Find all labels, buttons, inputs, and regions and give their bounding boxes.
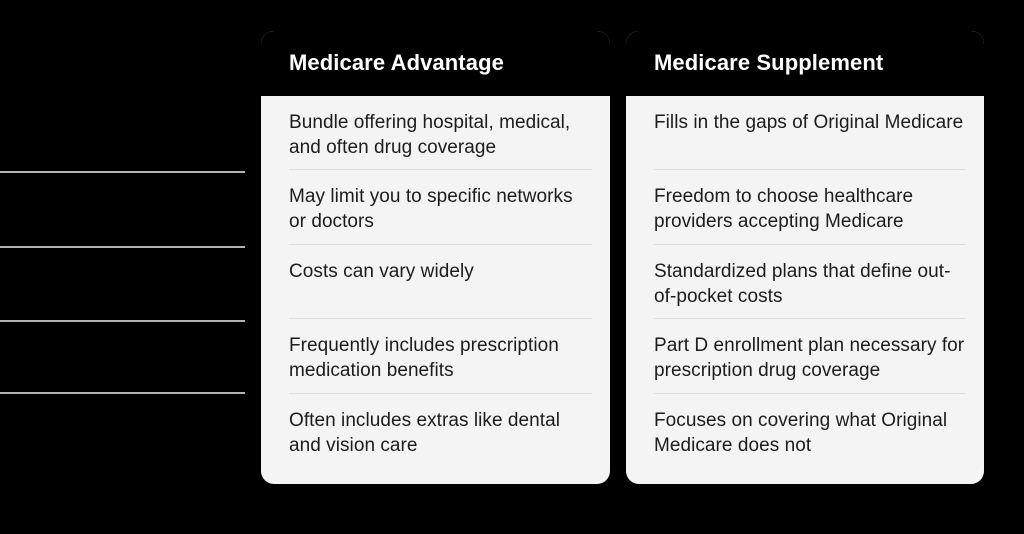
feature-row: Freedom to choose healthcare providers a… <box>654 170 966 244</box>
comparison-screen: Medicare Advantage Bundle offering hospi… <box>0 0 1024 534</box>
card-title: Medicare Advantage <box>289 51 504 75</box>
feature-text: May limit you to specific networks or do… <box>289 184 592 234</box>
clipped-comparison-column <box>0 0 245 534</box>
feature-text: Standardized plans that define out-of-po… <box>654 259 966 309</box>
feature-text: Part D enrollment plan necessary for pre… <box>654 333 966 383</box>
feature-row: Bundle offering hospital, medical, and o… <box>289 96 592 170</box>
feature-text: Frequently includes prescription medicat… <box>289 333 592 383</box>
feature-text: Bundle offering hospital, medical, and o… <box>289 110 592 160</box>
feature-row: Part D enrollment plan necessary for pre… <box>654 319 966 393</box>
card-feature-list: Fills in the gaps of Original Medicare F… <box>626 96 984 468</box>
clipped-row-divider <box>0 246 245 248</box>
feature-row: May limit you to specific networks or do… <box>289 170 592 244</box>
feature-text: Fills in the gaps of Original Medicare <box>654 110 963 135</box>
clipped-row-divider <box>0 171 245 173</box>
feature-text: Often includes extras like dental and vi… <box>289 408 592 458</box>
feature-row: Frequently includes prescription medicat… <box>289 319 592 393</box>
card-header: Medicare Supplement <box>626 31 984 96</box>
card-header: Medicare Advantage <box>261 31 610 96</box>
feature-text: Costs can vary widely <box>289 259 474 284</box>
feature-row: Often includes extras like dental and vi… <box>289 394 592 468</box>
feature-text: Freedom to choose healthcare providers a… <box>654 184 966 234</box>
feature-text: Focuses on covering what Original Medica… <box>654 408 966 458</box>
feature-row: Standardized plans that define out-of-po… <box>654 245 966 319</box>
card-feature-list: Bundle offering hospital, medical, and o… <box>261 96 610 468</box>
comparison-card-medicare-advantage[interactable]: Medicare Advantage Bundle offering hospi… <box>261 31 610 484</box>
clipped-row-divider <box>0 392 245 394</box>
comparison-card-medicare-supplement[interactable]: Medicare Supplement Fills in the gaps of… <box>626 31 984 484</box>
feature-row: Focuses on covering what Original Medica… <box>654 394 966 468</box>
card-title: Medicare Supplement <box>654 51 883 75</box>
clipped-row-divider <box>0 320 245 322</box>
feature-row: Costs can vary widely <box>289 245 592 319</box>
feature-row: Fills in the gaps of Original Medicare <box>654 96 966 170</box>
